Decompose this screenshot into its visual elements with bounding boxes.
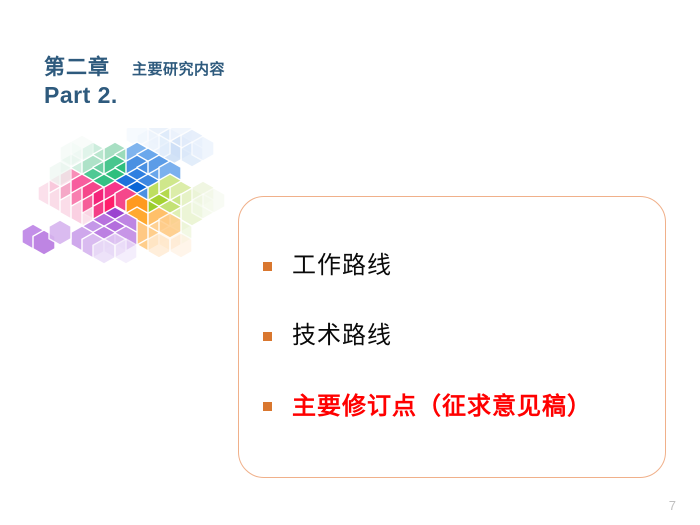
content-card: 工作路线 技术路线 主要修订点（征求意见稿） — [238, 196, 666, 478]
list-item[interactable]: 技术路线 — [263, 323, 649, 349]
chapter-number-label: 第二章 — [44, 56, 110, 80]
square-bullet-icon — [263, 262, 272, 271]
list-item-label: 工作路线 — [292, 253, 392, 279]
slide-heading: 第二章 主要研究内容 Part 2. — [44, 56, 364, 110]
chapter-heading-line: 第二章 主要研究内容 — [44, 56, 364, 80]
list-item-label: 主要修订点（征求意见稿） — [292, 394, 592, 420]
hexagon-cluster-graphic — [22, 128, 232, 278]
list-item-label: 技术路线 — [292, 323, 392, 349]
list-item[interactable]: 工作路线 — [263, 253, 649, 279]
chapter-subtitle-label: 主要研究内容 — [132, 58, 225, 79]
bullet-list: 工作路线 技术路线 主要修订点（征求意见稿） — [263, 253, 649, 420]
square-bullet-icon — [263, 332, 272, 341]
hexagon-cluster-svg — [22, 128, 232, 278]
slide-canvas: 第二章 主要研究内容 Part 2. — [0, 0, 700, 525]
page-number: 7 — [669, 498, 676, 513]
list-item[interactable]: 主要修订点（征求意见稿） — [263, 394, 649, 420]
square-bullet-icon — [263, 402, 272, 411]
chapter-part-label: Part 2. — [44, 81, 364, 110]
